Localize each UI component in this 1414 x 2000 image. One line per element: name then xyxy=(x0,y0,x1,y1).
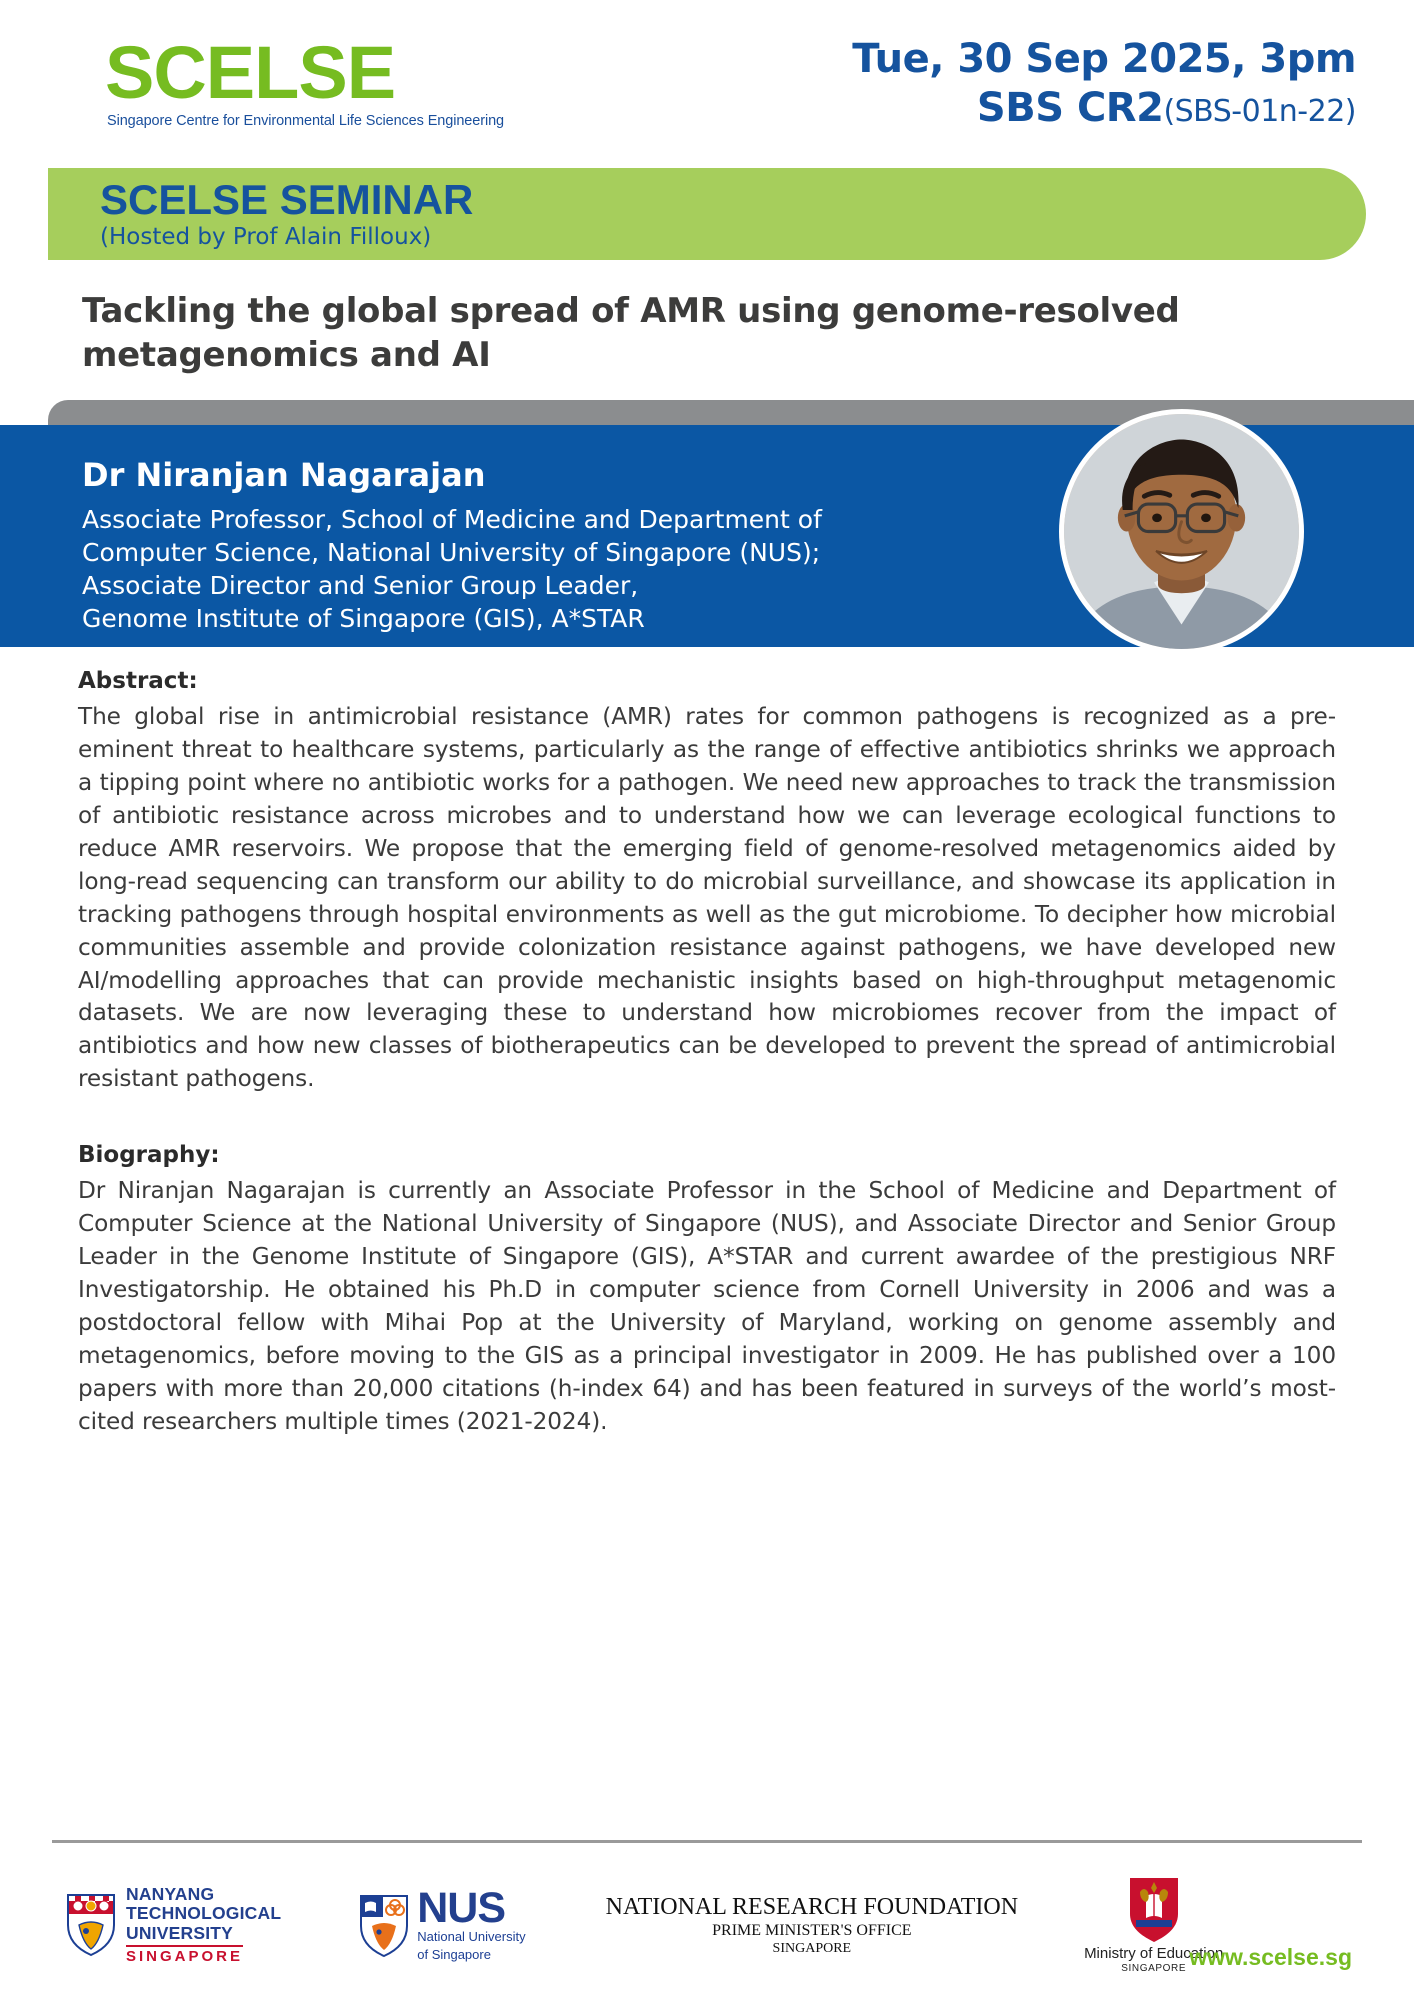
footer-divider xyxy=(52,1840,1362,1843)
nus-acronym: NUS xyxy=(417,1889,525,1928)
scelse-logo: SCELSE Singapore Centre for Environmenta… xyxy=(105,38,504,129)
portrait-illustration xyxy=(1064,414,1299,649)
speaker-affiliation-line-2: Computer Science, National University of… xyxy=(82,536,842,569)
abstract-body: The global rise in antimicrobial resista… xyxy=(78,701,1336,1096)
scelse-wordmark: SCELSE xyxy=(105,38,504,108)
ntu-line-1: NANYANG xyxy=(126,1885,281,1905)
poster-footer: NANYANG TECHNOLOGICAL UNIVERSITY SINGAPO… xyxy=(0,1862,1414,2000)
nus-sub-line-1: National University xyxy=(417,1930,525,1945)
speaker-details: Dr Niranjan Nagarajan Associate Professo… xyxy=(82,455,842,635)
event-date: Tue, 30 Sep 2025, 3pm xyxy=(852,36,1356,82)
abstract-heading: Abstract: xyxy=(78,668,1336,694)
venue-room-code: (SBS-01n-22) xyxy=(1163,94,1356,129)
biography-heading: Biography: xyxy=(78,1142,1336,1168)
nrf-logo: NATIONAL RESEARCH FOUNDATION PRIME MINIS… xyxy=(606,1894,1018,1957)
speaker-portrait xyxy=(1059,409,1304,654)
event-datetime-venue: Tue, 30 Sep 2025, 3pm SBS CR2(SBS-01n-22… xyxy=(852,36,1356,132)
nus-logo: NUS National University of Singapore xyxy=(359,1889,525,1963)
seminar-banner-title: SCELSE SEMINAR xyxy=(100,178,1366,222)
biography-section: Biography: Dr Niranjan Nagarajan is curr… xyxy=(78,1142,1336,1439)
seminar-host-label: (Hosted by Prof Alain Filloux) xyxy=(100,224,1366,252)
nrf-line-3: SINGAPORE xyxy=(606,1941,1018,1957)
poster-body: Abstract: The global rise in antimicrobi… xyxy=(78,668,1336,1439)
ntu-line-2: TECHNOLOGICAL xyxy=(126,1904,281,1924)
ntu-logo: NANYANG TECHNOLOGICAL UNIVERSITY SINGAPO… xyxy=(66,1885,281,1967)
abstract-section: Abstract: The global rise in antimicrobi… xyxy=(78,668,1336,1096)
nus-crest-icon xyxy=(359,1894,409,1958)
nus-wordmark: NUS National University of Singapore xyxy=(417,1889,525,1963)
ntu-crest-icon xyxy=(66,1893,116,1957)
speaker-affiliation-line-1: Associate Professor, School of Medicine … xyxy=(82,503,842,536)
nrf-line-2: PRIME MINISTER'S OFFICE xyxy=(606,1922,1018,1941)
event-venue: SBS CR2(SBS-01n-22) xyxy=(852,84,1356,132)
ntu-line-4: SINGAPORE xyxy=(126,1945,243,1966)
speaker-affiliation-line-4: Genome Institute of Singapore (GIS), A*S… xyxy=(82,602,842,635)
scelse-tagline: Singapore Centre for Environmental Life … xyxy=(107,113,504,129)
speaker-affiliation-line-3: Associate Director and Senior Group Lead… xyxy=(82,569,842,602)
ntu-line-3: UNIVERSITY xyxy=(126,1924,281,1944)
nus-sub-line-2: of Singapore xyxy=(417,1948,525,1963)
venue-room: SBS CR2 xyxy=(977,85,1164,131)
speaker-name: Dr Niranjan Nagarajan xyxy=(82,455,842,497)
scelse-website-link[interactable]: www.scelse.sg xyxy=(1189,1944,1352,1971)
seminar-banner: SCELSE SEMINAR (Hosted by Prof Alain Fil… xyxy=(48,168,1366,260)
moe-crest-icon xyxy=(1128,1876,1180,1942)
nrf-line-1: NATIONAL RESEARCH FOUNDATION xyxy=(606,1894,1018,1922)
biography-body: Dr Niranjan Nagarajan is currently an As… xyxy=(78,1175,1336,1439)
partner-logo-row: NANYANG TECHNOLOGICAL UNIVERSITY SINGAPO… xyxy=(56,1876,1374,1975)
poster-header: SCELSE Singapore Centre for Environmenta… xyxy=(0,0,1414,160)
ntu-wordmark: NANYANG TECHNOLOGICAL UNIVERSITY SINGAPO… xyxy=(126,1885,281,1967)
talk-title: Tackling the global spread of AMR using … xyxy=(82,290,1324,377)
